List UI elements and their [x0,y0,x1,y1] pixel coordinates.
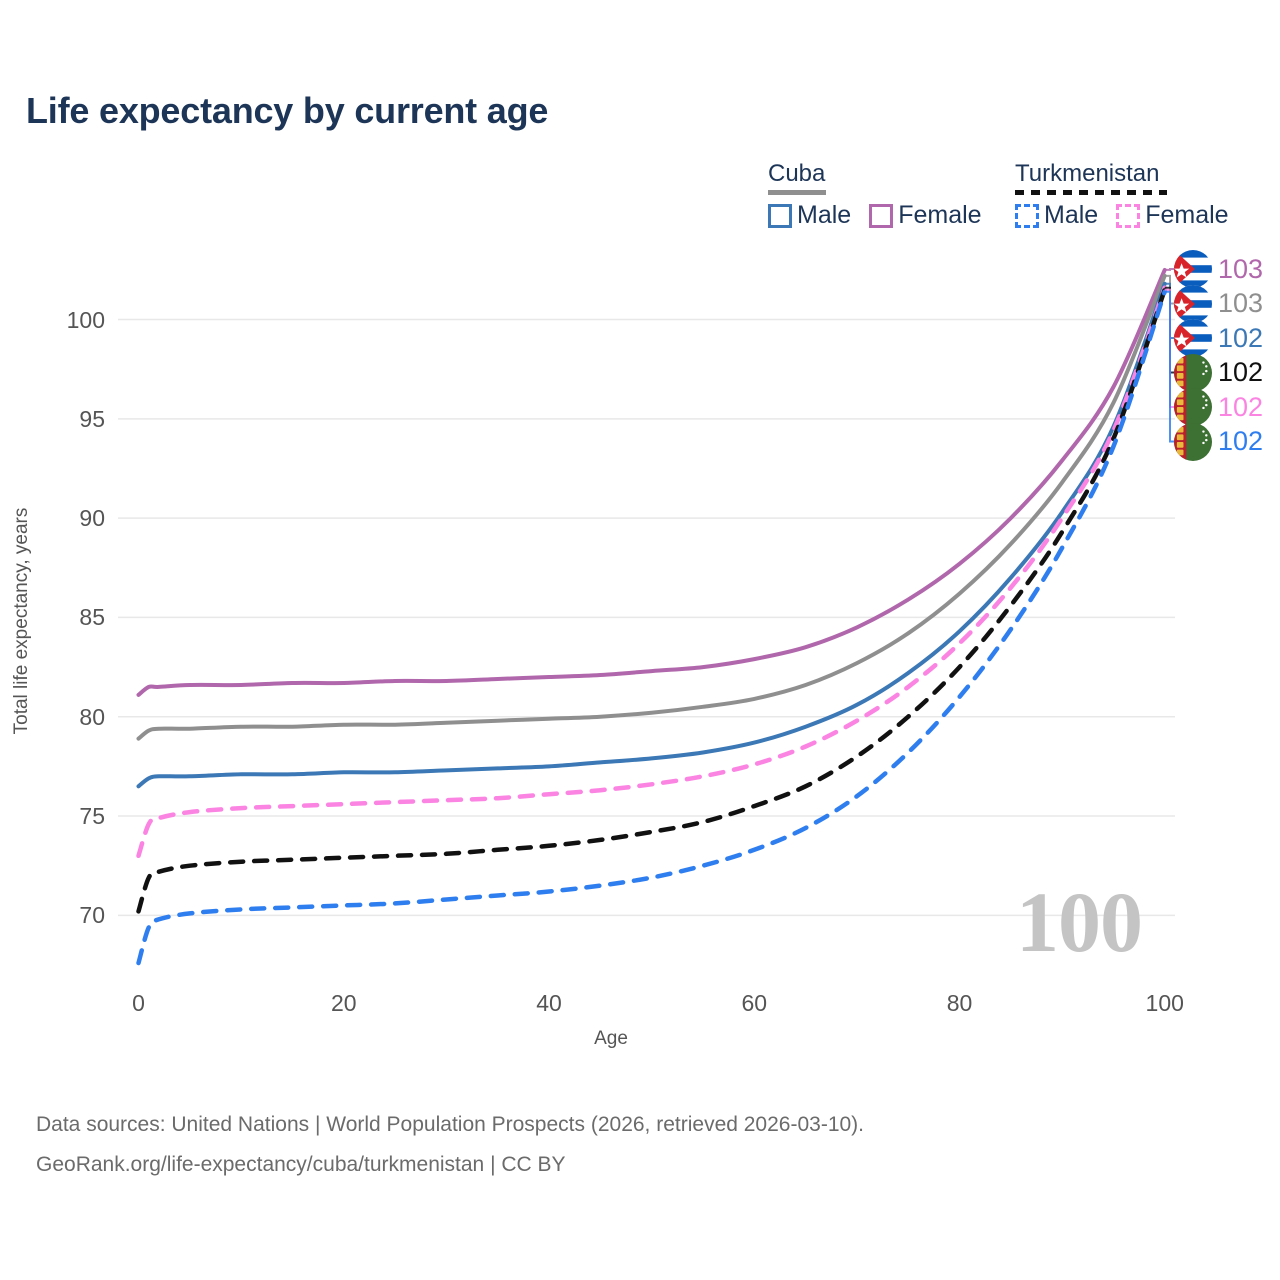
footer-line-url: GeoRank.org/life-expectancy/cuba/turkmen… [36,1145,864,1185]
legend-group-cuba: Cuba Male Female [768,160,982,230]
footer-line-sources: Data sources: United Nations | World Pop… [36,1105,864,1145]
cuba-flag-icon [1174,250,1212,288]
series-end-label: 103 [1174,285,1263,323]
legend-group-rule-solid [768,190,826,195]
series-line [139,290,1165,912]
series-line [139,270,1165,695]
end-label-value: 103 [1218,290,1263,317]
x-tick-label: 0 [99,990,179,1017]
legend-item-turkmenistan-male[interactable]: Male [1015,201,1098,230]
x-axis-label: Age [0,1028,1222,1050]
legend-item-cuba-male[interactable]: Male [768,201,851,230]
end-label-value: 102 [1218,325,1263,352]
legend-group-title: Cuba [768,160,982,188]
turkmenistan-flag-icon [1174,423,1212,461]
legend-swatch-icon [768,204,792,228]
turkmenistan-flag-icon [1174,354,1212,392]
y-tick-label: 80 [25,704,105,731]
legend-swatch-icon [1116,204,1140,228]
turkmenistan-flag-icon [1174,388,1212,426]
y-axis-label: Total life expectancy, years [11,341,33,901]
y-tick-label: 90 [25,505,105,532]
y-tick-label: 70 [25,902,105,929]
legend-group-turkmenistan: Turkmenistan Male Female [1015,160,1229,230]
legend-group-rule-dashed [1015,190,1167,195]
x-tick-label: 60 [714,990,794,1017]
series-end-label: 102 [1174,354,1263,392]
y-tick-label: 85 [25,604,105,631]
legend-group-title: Turkmenistan [1015,160,1229,188]
series-line [139,276,1165,739]
legend-swatch-icon [1015,204,1039,228]
y-tick-label: 95 [25,406,105,433]
x-tick-label: 100 [1125,990,1205,1017]
series-line [139,288,1165,856]
series-end-label: 102 [1174,319,1263,357]
chart-legend: Cuba Male Female Turkmenistan Male Femal… [760,160,1260,240]
series-end-label: 102 [1174,388,1263,426]
legend-item-cuba-female[interactable]: Female [869,201,981,230]
x-tick-label: 80 [919,990,999,1017]
legend-item-turkmenistan-female[interactable]: Female [1116,201,1228,230]
y-tick-label: 100 [25,307,105,334]
cuba-flag-icon [1174,285,1212,323]
footer-credits: Data sources: United Nations | World Pop… [36,1105,864,1185]
x-tick-label: 40 [509,990,589,1017]
end-label-value: 102 [1218,428,1263,455]
chart-watermark: 100 [1016,872,1142,972]
series-end-labels: 103 103 102 [1174,250,1280,470]
y-tick-label: 75 [25,803,105,830]
end-label-value: 103 [1218,256,1263,283]
series-line [139,284,1165,787]
legend-item-label: Male [1044,201,1098,230]
legend-item-label: Female [898,201,981,230]
series-end-label: 103 [1174,250,1263,288]
cuba-flag-icon [1174,319,1212,357]
x-tick-label: 20 [304,990,384,1017]
end-label-value: 102 [1218,394,1263,421]
end-label-value: 102 [1218,359,1263,386]
legend-item-label: Male [797,201,851,230]
series-line [139,292,1165,963]
legend-swatch-icon [869,204,893,228]
legend-item-label: Female [1145,201,1228,230]
series-end-label: 102 [1174,423,1263,461]
